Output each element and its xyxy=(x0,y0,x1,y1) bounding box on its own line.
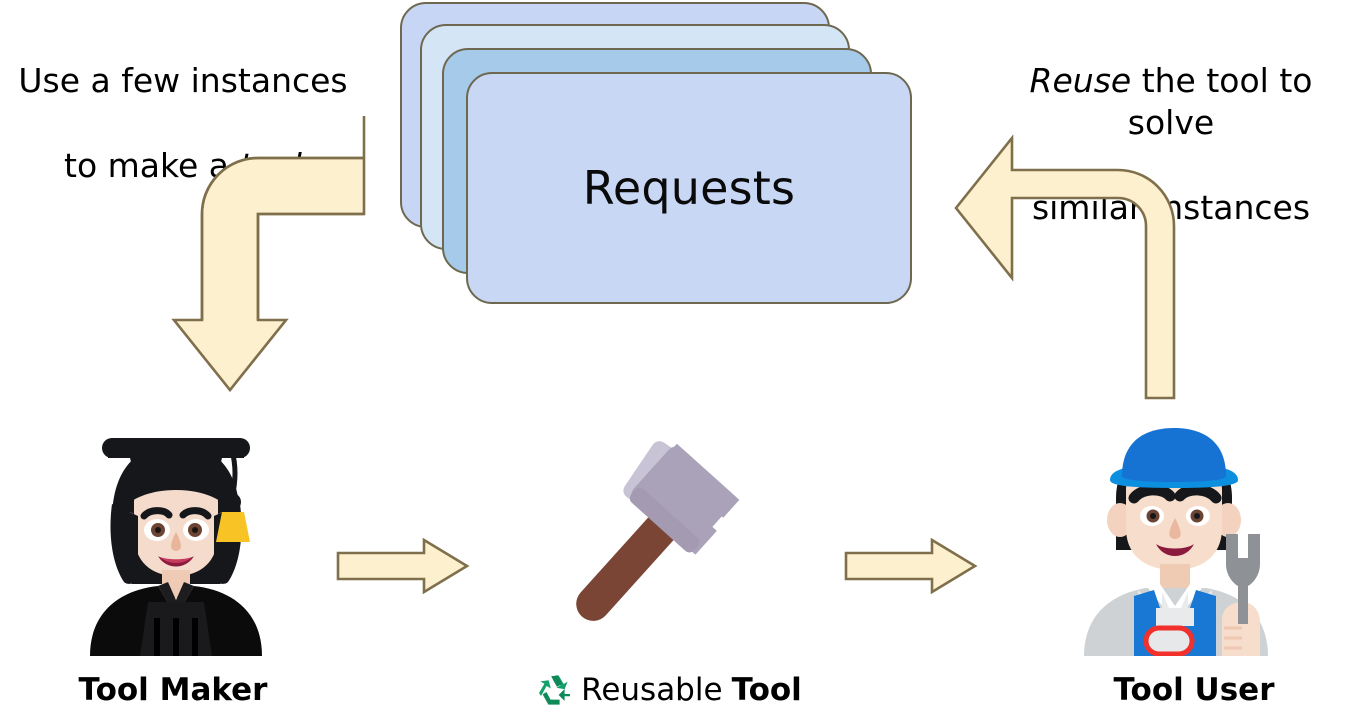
graduate-emoji xyxy=(72,424,280,656)
arrow-shape xyxy=(338,540,467,592)
mechanic-emoji xyxy=(1076,424,1276,656)
label-tool-maker: Tool Maker xyxy=(0,672,346,708)
arrow-tool-to-tool-user xyxy=(844,538,978,594)
arrow-body xyxy=(956,138,1174,398)
arrow-requests-to-tool-maker xyxy=(128,114,374,402)
requests-label: Requests xyxy=(466,72,912,304)
hammer-emoji xyxy=(528,432,760,660)
recycle-icon xyxy=(538,674,572,706)
label-tool-user: Tool User xyxy=(1022,672,1366,708)
arrow-inner-edge xyxy=(258,214,364,320)
tool-text: Tool xyxy=(732,672,802,708)
label-reusable-tool: Reusable Tool xyxy=(440,672,900,708)
arrow-tool-user-to-requests xyxy=(946,122,1198,410)
arrow-shape xyxy=(846,540,975,592)
diagram-canvas: Use a few instances to make a tool Reuse… xyxy=(0,0,1366,721)
arrow-tool-maker-to-tool xyxy=(336,538,470,594)
caption-right-emphasis: Reuse xyxy=(1030,61,1132,100)
reusable-text: Reusable xyxy=(581,672,722,708)
requests-card-stack: Requests xyxy=(400,2,912,304)
caption-left-line1: Use a few instances xyxy=(18,61,347,100)
